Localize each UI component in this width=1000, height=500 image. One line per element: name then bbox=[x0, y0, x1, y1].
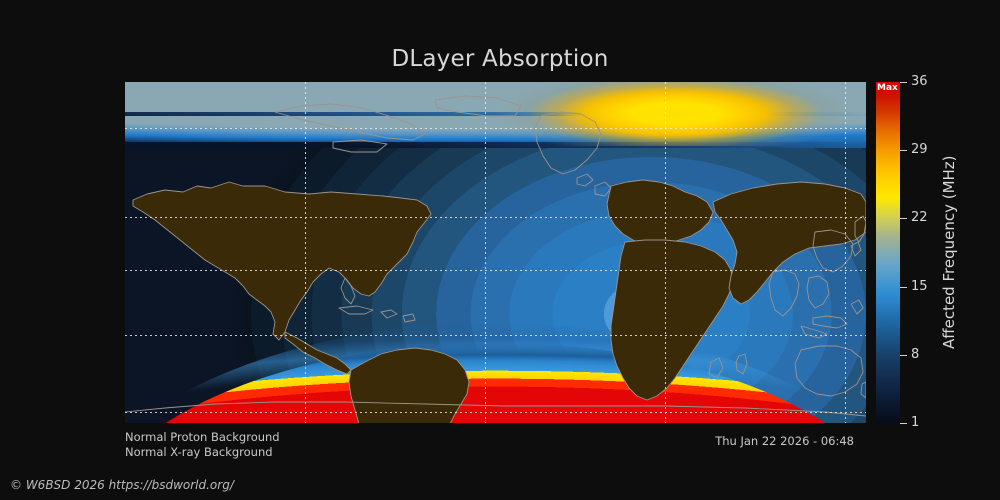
colorbar-axis-title: Affected Frequency (MHz) bbox=[938, 82, 960, 423]
copyright-credit: © W6BSD 2026 https://bsdworld.org/ bbox=[10, 478, 234, 492]
timestamp: Thu Jan 22 2026 - 06:48 bbox=[0, 434, 854, 448]
colorbar-tick-label: 8 bbox=[911, 347, 919, 362]
colorbar-max-label: Max bbox=[877, 83, 898, 93]
colorbar-tick bbox=[900, 355, 907, 356]
colorbar-tick bbox=[900, 287, 907, 288]
continents-layer bbox=[125, 82, 866, 423]
colorbar-tick bbox=[900, 218, 907, 219]
landmass-group bbox=[125, 96, 866, 423]
colorbar-tick bbox=[900, 150, 907, 151]
world-map[interactable] bbox=[125, 82, 866, 423]
colorbar-tick bbox=[900, 82, 907, 83]
plot-root: DLayer Absorption bbox=[0, 0, 1000, 500]
colorbar-tick-label: 22 bbox=[911, 210, 928, 225]
colorbar-tick-label: 1 bbox=[911, 415, 919, 430]
coastline-svg bbox=[125, 82, 866, 423]
colorbar-gradient bbox=[876, 82, 900, 423]
page-title: DLayer Absorption bbox=[0, 46, 1000, 72]
colorbar-tick-label: 36 bbox=[911, 74, 928, 89]
colorbar-tick-label: 15 bbox=[911, 279, 928, 294]
colorbar-tick-label: 29 bbox=[911, 142, 928, 157]
colorbar-tick bbox=[900, 423, 907, 424]
colorbar[interactable] bbox=[876, 82, 900, 423]
